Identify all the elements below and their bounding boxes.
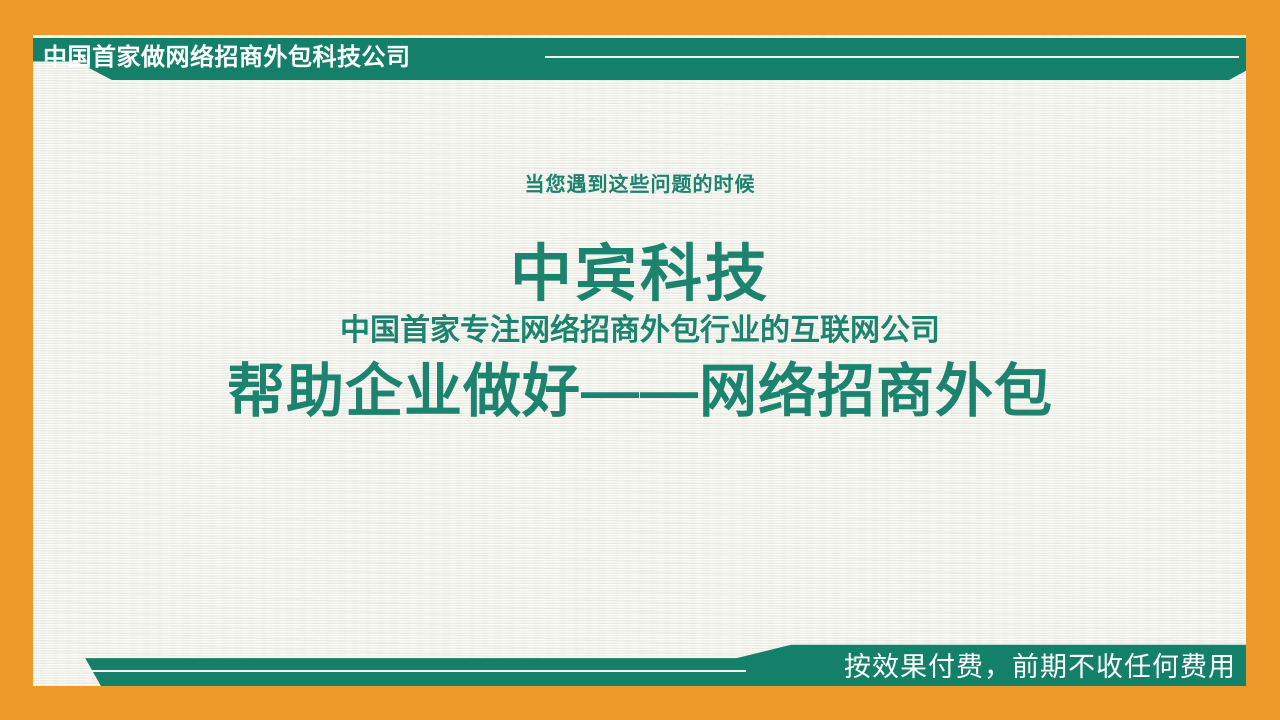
footer-divider-line	[43, 670, 746, 672]
orange-frame-bottom	[0, 686, 1280, 720]
header-divider-line	[545, 56, 1239, 58]
eyebrow-text: 当您遇到这些问题的时候	[0, 168, 1280, 197]
footer-note-text: 按效果付费，前期不收任何费用	[844, 650, 1236, 684]
brand-name-title: 中宾科技	[0, 244, 1280, 306]
presentation-slide: 中国首家做网络招商外包科技公司 当您遇到这些问题的时候 中宾科技 中国首家专注网…	[0, 0, 1280, 720]
header-badge-text: 中国首家做网络招商外包科技公司	[43, 41, 411, 75]
orange-frame-top	[0, 0, 1280, 35]
main-headline: 帮助企业做好——网络招商外包	[0, 360, 1280, 424]
company-tagline: 中国首家专注网络招商外包行业的互联网公司	[0, 316, 1280, 346]
